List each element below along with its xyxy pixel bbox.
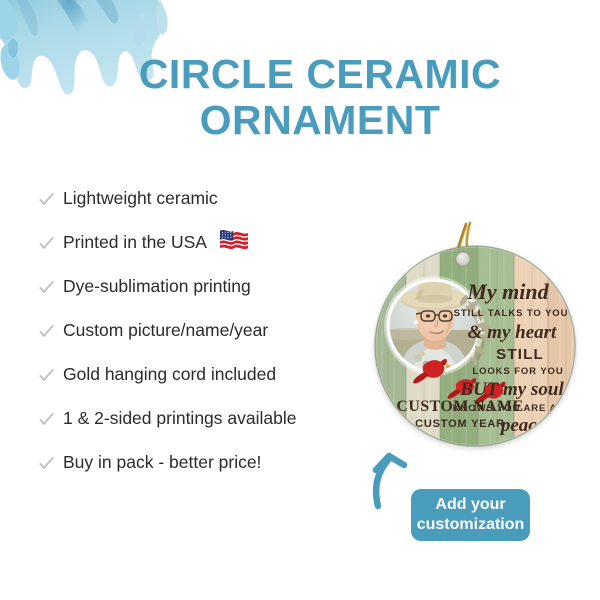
list-item-label: Dye-sublimation printing bbox=[63, 274, 251, 299]
page-title: CIRCLE CERAMIC ORNAMENT bbox=[110, 52, 530, 144]
quote-line-4: STILL bbox=[496, 346, 544, 363]
quote-line-2: STILL TALKS TO YOU bbox=[454, 308, 569, 319]
quote-line-5: LOOKS FOR YOU bbox=[472, 366, 563, 377]
list-item: Gold hanging cord included bbox=[38, 362, 358, 406]
check-icon bbox=[38, 279, 55, 296]
check-icon bbox=[38, 411, 55, 428]
add-customization-button[interactable]: Add your customization bbox=[411, 489, 530, 541]
quote-line-3: & my heart bbox=[468, 322, 557, 343]
us-flag-icon bbox=[220, 230, 248, 249]
quote-line-1: My mind bbox=[466, 279, 549, 304]
list-item-label: Lightweight ceramic bbox=[63, 186, 218, 211]
list-item-label: Gold hanging cord included bbox=[63, 362, 276, 387]
check-icon bbox=[38, 235, 55, 252]
feature-list: Lightweight ceramic Printed in the USA D… bbox=[38, 186, 358, 494]
ornament-product-image[interactable]: My mind STILL TALKS TO YOU & my heart ST… bbox=[360, 214, 590, 454]
page-title-line-2: ORNAMENT bbox=[110, 98, 530, 144]
quote-line-6: BUT my soul bbox=[459, 379, 564, 400]
check-icon bbox=[38, 367, 55, 384]
custom-name-text: CUSTOM NAME bbox=[396, 398, 523, 415]
cta-button-line-1: Add your bbox=[435, 495, 505, 515]
check-icon bbox=[38, 455, 55, 472]
list-item: Lightweight ceramic bbox=[38, 186, 358, 230]
list-item: Buy in pack - better price! bbox=[38, 450, 358, 494]
list-item: Dye-sublimation printing bbox=[38, 274, 358, 318]
list-item-label: Custom picture/name/year bbox=[63, 318, 268, 343]
cta-button-line-2: customization bbox=[417, 515, 525, 535]
list-item-label: 1 & 2-sided printings available bbox=[63, 406, 296, 431]
list-item: 1 & 2-sided printings available bbox=[38, 406, 358, 450]
check-icon bbox=[38, 323, 55, 340]
list-item-label: Printed in the USA bbox=[63, 230, 207, 255]
list-item: Custom picture/name/year bbox=[38, 318, 358, 362]
custom-year-text: CUSTOM YEAR bbox=[415, 418, 505, 430]
page-title-line-1: CIRCLE CERAMIC bbox=[110, 52, 530, 98]
check-icon bbox=[38, 191, 55, 208]
list-item: Printed in the USA bbox=[38, 230, 358, 274]
list-item-label: Buy in pack - better price! bbox=[63, 450, 261, 475]
